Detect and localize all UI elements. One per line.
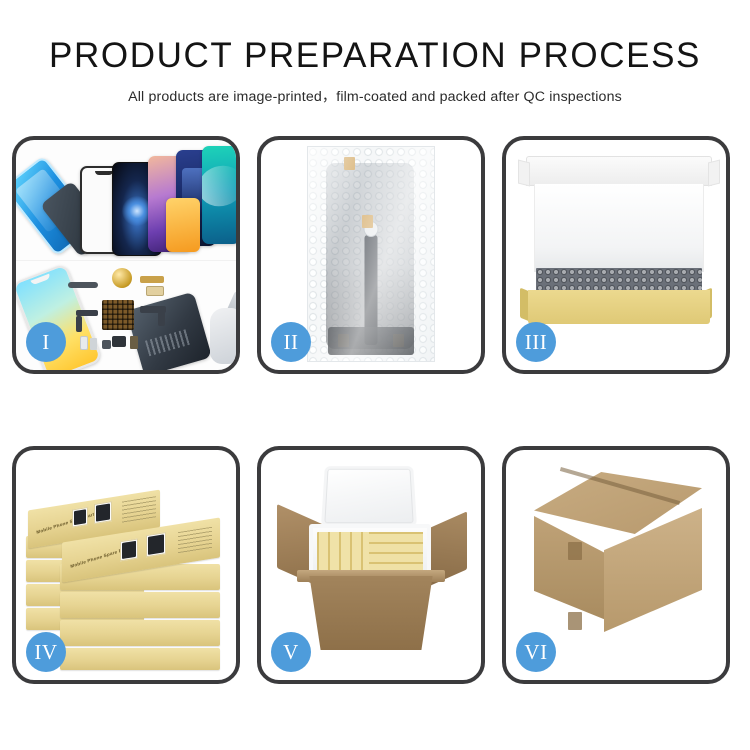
background-divider [16,260,236,261]
battery-connector-icon [68,282,98,288]
product-preparation-infographic: PRODUCT PREPARATION PROCESS All products… [0,0,750,750]
phone-chassis-icon [126,292,212,370]
step-panel-4-stacked-boxes: Mobile Phone Spare Parts Mobile Phone Sp… [12,446,240,684]
step-panel-2-bubble-wrap: II [257,136,485,374]
flex-cable-bend-icon [76,316,82,332]
hand-icon [210,308,236,364]
header: PRODUCT PREPARATION PROCESS All products… [0,0,750,106]
step-panel-3-open-mailer: III [502,136,730,374]
step-badge-3: III [516,322,556,362]
box-label-text: Mobile Phone Spare Parts [36,511,98,535]
screw-tray-icon [102,300,134,330]
step-badge-6: VI [516,632,556,672]
box-spec-lines [178,527,212,554]
page-title: PRODUCT PREPARATION PROCESS [0,38,750,75]
box-screen-graphic [148,534,164,555]
carton-tape-lower-icon [568,612,582,630]
teal-phone-icon [202,146,236,244]
stacked-box [60,620,220,646]
box-spec-lines [122,496,156,523]
antenna-bend-icon [158,312,165,326]
mailer-lid-icon [526,156,712,186]
foam-lid-icon [321,466,417,526]
process-step-grid: I II [12,136,738,692]
step-panel-5-carton-packing: V [257,446,485,684]
stacked-box [60,592,220,618]
carton-left-face-icon [534,516,606,620]
carton-body-icon [301,576,441,650]
stacked-box [60,648,220,670]
speaker-icon [102,340,111,349]
mailer-interior-icon [534,184,704,272]
step-badge-4: IV [26,632,66,672]
mailer-base-icon [528,290,710,324]
small-screw-icon [90,338,97,350]
carton-tape-upper-icon [568,542,582,560]
bubble-wrap-bag-icon [307,146,435,362]
step-badge-2: II [271,322,311,362]
step-panel-1-phone-parts: I [12,136,240,374]
step-panel-6-sealed-carton: VI [502,446,730,684]
connector-pad-icon [146,286,164,296]
step-badge-5: V [271,632,311,672]
vibration-motor-icon [112,268,132,288]
step-badge-1: I [26,322,66,362]
box-screen-graphic [122,541,136,559]
sensor-icon [80,336,88,350]
page-subtitle: All products are image-printed，film-coat… [0,86,750,106]
packed-yellow-boxes-row2-icon [369,532,423,574]
bag-sheen-overlay [308,147,434,361]
box-screen-graphic [96,503,110,521]
box-screen-graphic [74,509,86,525]
sim-tray-icon [130,336,138,349]
orange-screen-phone-icon [166,198,200,252]
flex-cable-gold-icon [140,276,164,283]
camera-module-icon [112,336,126,347]
